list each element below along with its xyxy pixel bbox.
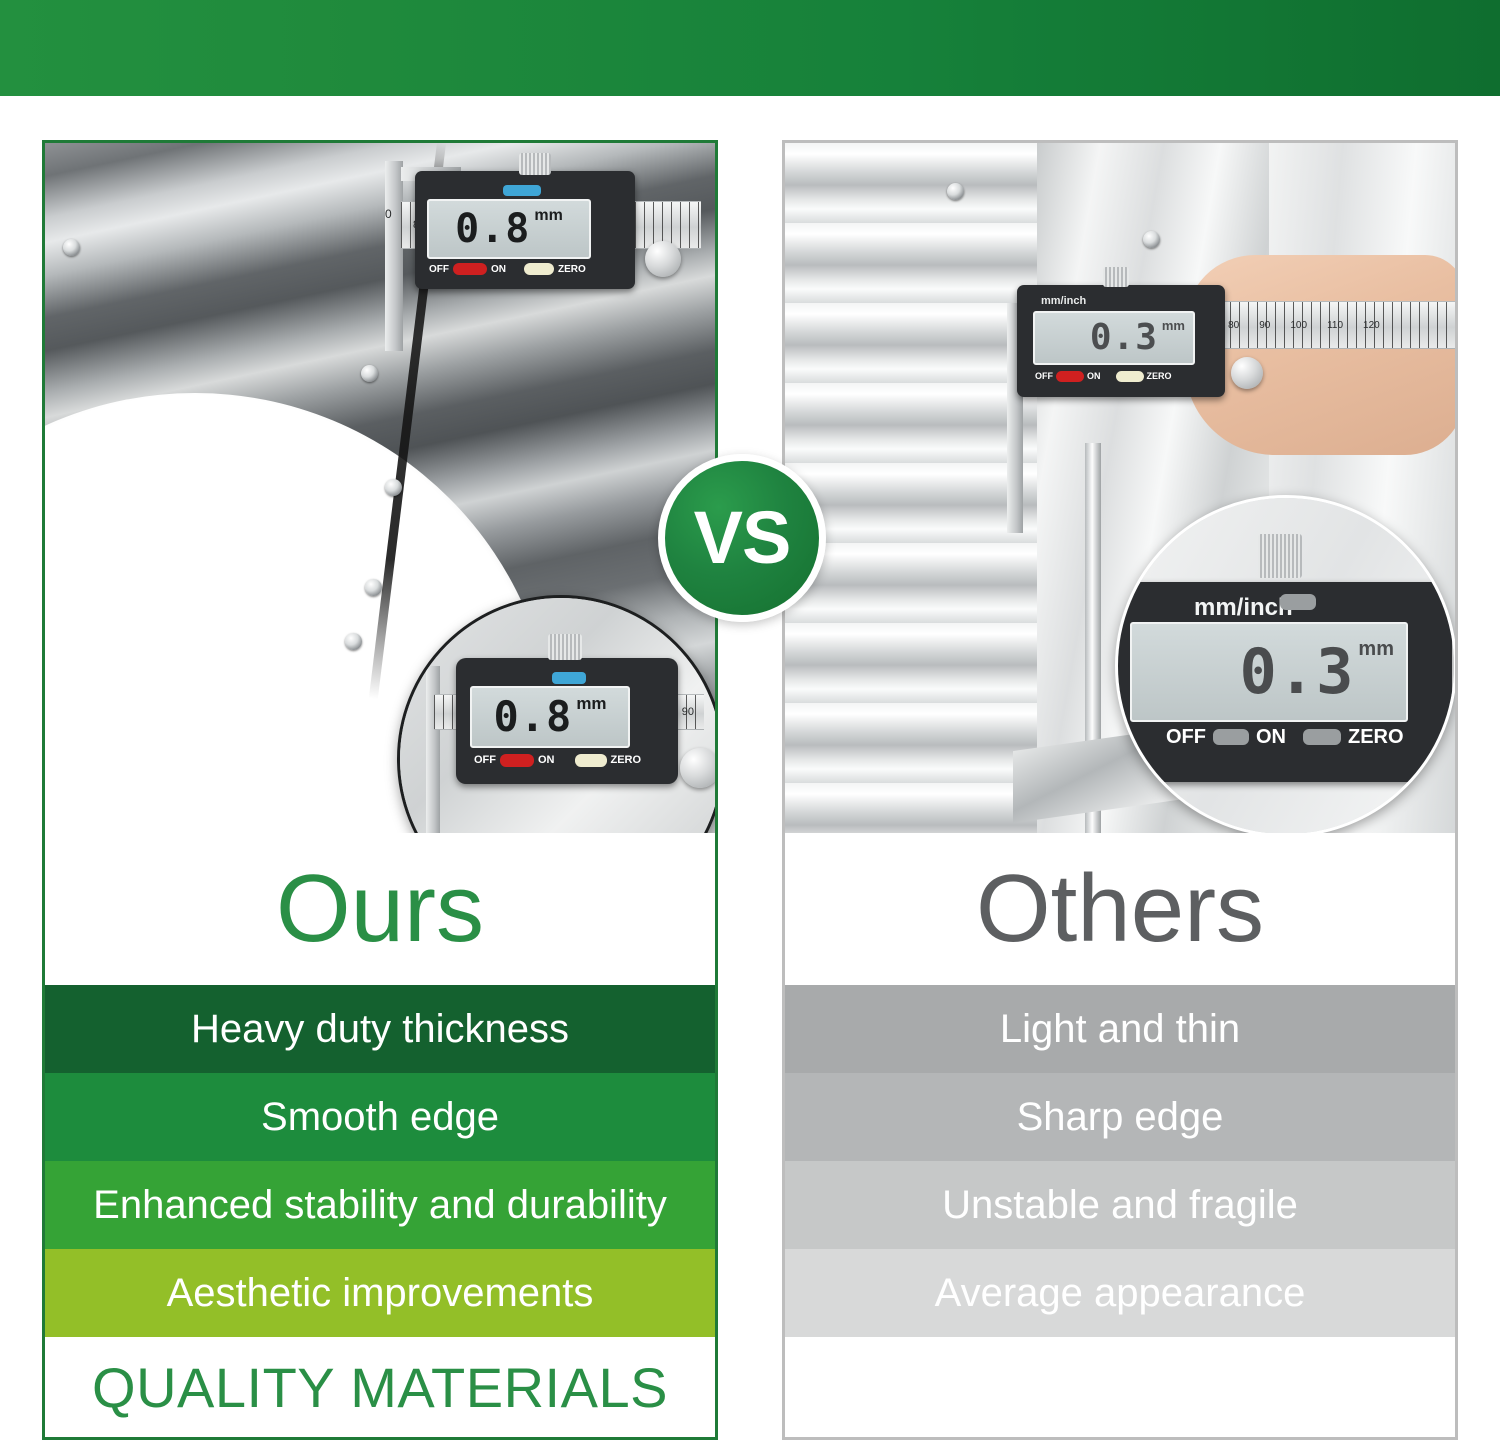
top-banner xyxy=(0,0,1500,96)
feature-label: Smooth edge xyxy=(261,1095,499,1140)
caliper-ruler-numbers: 70 80 90 100 110 120 xyxy=(1185,302,1455,348)
caliper-reading: 0.8 xyxy=(455,209,530,249)
bolt-icon xyxy=(361,365,378,382)
feature-row: Aesthetic improvements xyxy=(45,1249,715,1337)
caliper-button-row: OFF ON ZERO xyxy=(1035,369,1213,383)
vs-label: VS xyxy=(694,501,791,575)
caliper-on-label: ON xyxy=(538,754,555,766)
caliper-button-row: OFF ON ZERO xyxy=(474,752,674,768)
panel-title-text: Ours xyxy=(276,861,484,957)
caliper-unit: mm xyxy=(576,694,606,714)
caliper-thumb-wheel[interactable] xyxy=(680,748,715,788)
feature-row: Unstable and fragile xyxy=(785,1161,1455,1249)
feature-row: Enhanced stability and durability xyxy=(45,1161,715,1249)
caliper-mode-button[interactable] xyxy=(503,185,541,196)
caliper-reading: 0.8 xyxy=(493,696,572,738)
ruler-origin-label: 0 xyxy=(385,207,392,221)
feature-label: Enhanced stability and durability xyxy=(93,1183,667,1228)
panel-ours: 80 100 110 0 0.8 mm OFF ON xyxy=(42,140,718,1440)
comparison-stage: 80 100 110 0 0.8 mm OFF ON xyxy=(0,96,1500,1455)
caliper-mode-button[interactable] xyxy=(1280,594,1316,610)
feature-row: Average appearance xyxy=(785,1249,1455,1337)
caliper-zero-label: ZERO xyxy=(1147,371,1172,381)
caliper-zero-button[interactable] xyxy=(575,754,607,767)
panel-title-others: Others xyxy=(785,833,1455,985)
caliper-mode-label: mm/inch xyxy=(1041,295,1086,307)
panel-footer-others xyxy=(785,1337,1455,1437)
ruler-mark: 110 xyxy=(1327,320,1343,331)
feature-row: Smooth edge xyxy=(45,1073,715,1161)
caliper-zero-label: ZERO xyxy=(611,754,642,766)
caliper-reading: 0.3 xyxy=(1090,320,1158,356)
hand xyxy=(1185,255,1455,455)
caliper-lock-knob[interactable] xyxy=(548,634,582,660)
feature-label: Sharp edge xyxy=(1017,1095,1224,1140)
feature-label: Aesthetic improvements xyxy=(167,1271,594,1316)
caliper-thumb-wheel[interactable] xyxy=(645,241,681,277)
feature-row: Sharp edge xyxy=(785,1073,1455,1161)
bolt-icon xyxy=(365,579,382,596)
feature-label: Heavy duty thickness xyxy=(191,1007,569,1052)
ruler-mark: 120 xyxy=(1363,320,1380,331)
caliper-zero-button[interactable] xyxy=(524,263,554,275)
caliper-mode-button[interactable] xyxy=(552,672,586,684)
caliper-display: 0.8 mm xyxy=(470,686,630,748)
caliper-lock-knob[interactable] xyxy=(519,153,551,175)
caliper-power-switch[interactable] xyxy=(500,754,534,767)
caliper-off-label: OFF xyxy=(1166,726,1206,749)
caliper-display: 0.8 mm xyxy=(427,199,591,259)
caliper-unit: mm xyxy=(1162,318,1185,333)
caliper-on-label: ON xyxy=(1087,371,1101,381)
caliper-ruler: 70 80 90 100 110 120 xyxy=(1185,301,1455,349)
bolt-icon xyxy=(345,633,362,650)
caliper-zero-label: ZERO xyxy=(1348,726,1404,749)
feature-row: Light and thin xyxy=(785,985,1455,1073)
caliper-display: 0.3 mm xyxy=(1033,311,1195,365)
caliper-on-label: ON xyxy=(491,264,506,275)
bolt-icon xyxy=(947,183,964,200)
caliper-off-label: OFF xyxy=(1035,371,1053,381)
panel-title-ours: Ours xyxy=(45,833,715,985)
feature-list-ours: Heavy duty thickness Smooth edge Enhance… xyxy=(45,985,715,1337)
panel-others: 70 80 90 100 110 120 mm/inch 0.3 mm O xyxy=(782,140,1458,1440)
feature-label: Average appearance xyxy=(935,1271,1306,1316)
feature-list-others: Light and thin Sharp edge Unstable and f… xyxy=(785,985,1455,1337)
caliper-power-switch[interactable] xyxy=(1213,729,1249,745)
quality-materials-text: QUALITY MATERIALS xyxy=(92,1355,668,1420)
caliper-reading: 0.3 xyxy=(1239,641,1354,703)
bolt-icon xyxy=(385,479,402,496)
caliper-jaw xyxy=(385,161,403,351)
caliper-power-switch[interactable] xyxy=(453,263,487,275)
caliper-zero-label: ZERO xyxy=(558,264,586,275)
magnifier-inset-ours: 90 0.8 mm OFF ON ZERO xyxy=(397,595,715,833)
caliper-zero-button[interactable] xyxy=(1116,371,1144,382)
ruler-mark: 90 xyxy=(1259,320,1270,331)
feature-label: Unstable and fragile xyxy=(942,1183,1298,1228)
panel-title-text: Others xyxy=(976,861,1264,957)
ruler-mark: 90 xyxy=(682,706,694,718)
caliper-button-row: OFF ON ZERO xyxy=(429,261,609,277)
caliper-off-label: OFF xyxy=(429,264,449,275)
caliper-mode-label: mm/inch xyxy=(1194,594,1293,622)
caliper-unit: mm xyxy=(534,207,562,225)
bolt-icon xyxy=(1143,231,1160,248)
bolt-icon xyxy=(63,239,80,256)
caliper-unit: mm xyxy=(1358,638,1394,661)
caliper-button-row: OFF ON ZERO xyxy=(1166,726,1436,748)
caliper-lock-knob[interactable] xyxy=(1103,267,1129,287)
feature-label: Light and thin xyxy=(1000,1007,1240,1052)
magnifier-inset-others: mm/inch 0.3 mm OFF ON ZERO xyxy=(1115,495,1455,833)
vs-badge: VS xyxy=(658,454,826,622)
panel-footer-ours: QUALITY MATERIALS xyxy=(45,1337,715,1437)
product-photo-others: 70 80 90 100 110 120 mm/inch 0.3 mm O xyxy=(785,143,1455,833)
caliper-jaw xyxy=(426,666,440,833)
caliper-lock-knob[interactable] xyxy=(1258,534,1302,578)
caliper-off-label: OFF xyxy=(474,754,496,766)
corrugated-sheet-side xyxy=(785,143,1037,833)
product-photo-ours: 80 100 110 0 0.8 mm OFF ON xyxy=(45,143,715,833)
feature-row: Heavy duty thickness xyxy=(45,985,715,1073)
caliper-display: 0.3 mm xyxy=(1130,622,1408,722)
caliper-power-switch[interactable] xyxy=(1056,371,1084,382)
ruler-mark: 80 xyxy=(1228,320,1239,331)
caliper-zero-button[interactable] xyxy=(1303,729,1341,745)
caliper-thumb-wheel[interactable] xyxy=(1231,357,1263,389)
caliper-on-label: ON xyxy=(1256,726,1286,749)
ruler-mark: 100 xyxy=(1290,320,1307,331)
